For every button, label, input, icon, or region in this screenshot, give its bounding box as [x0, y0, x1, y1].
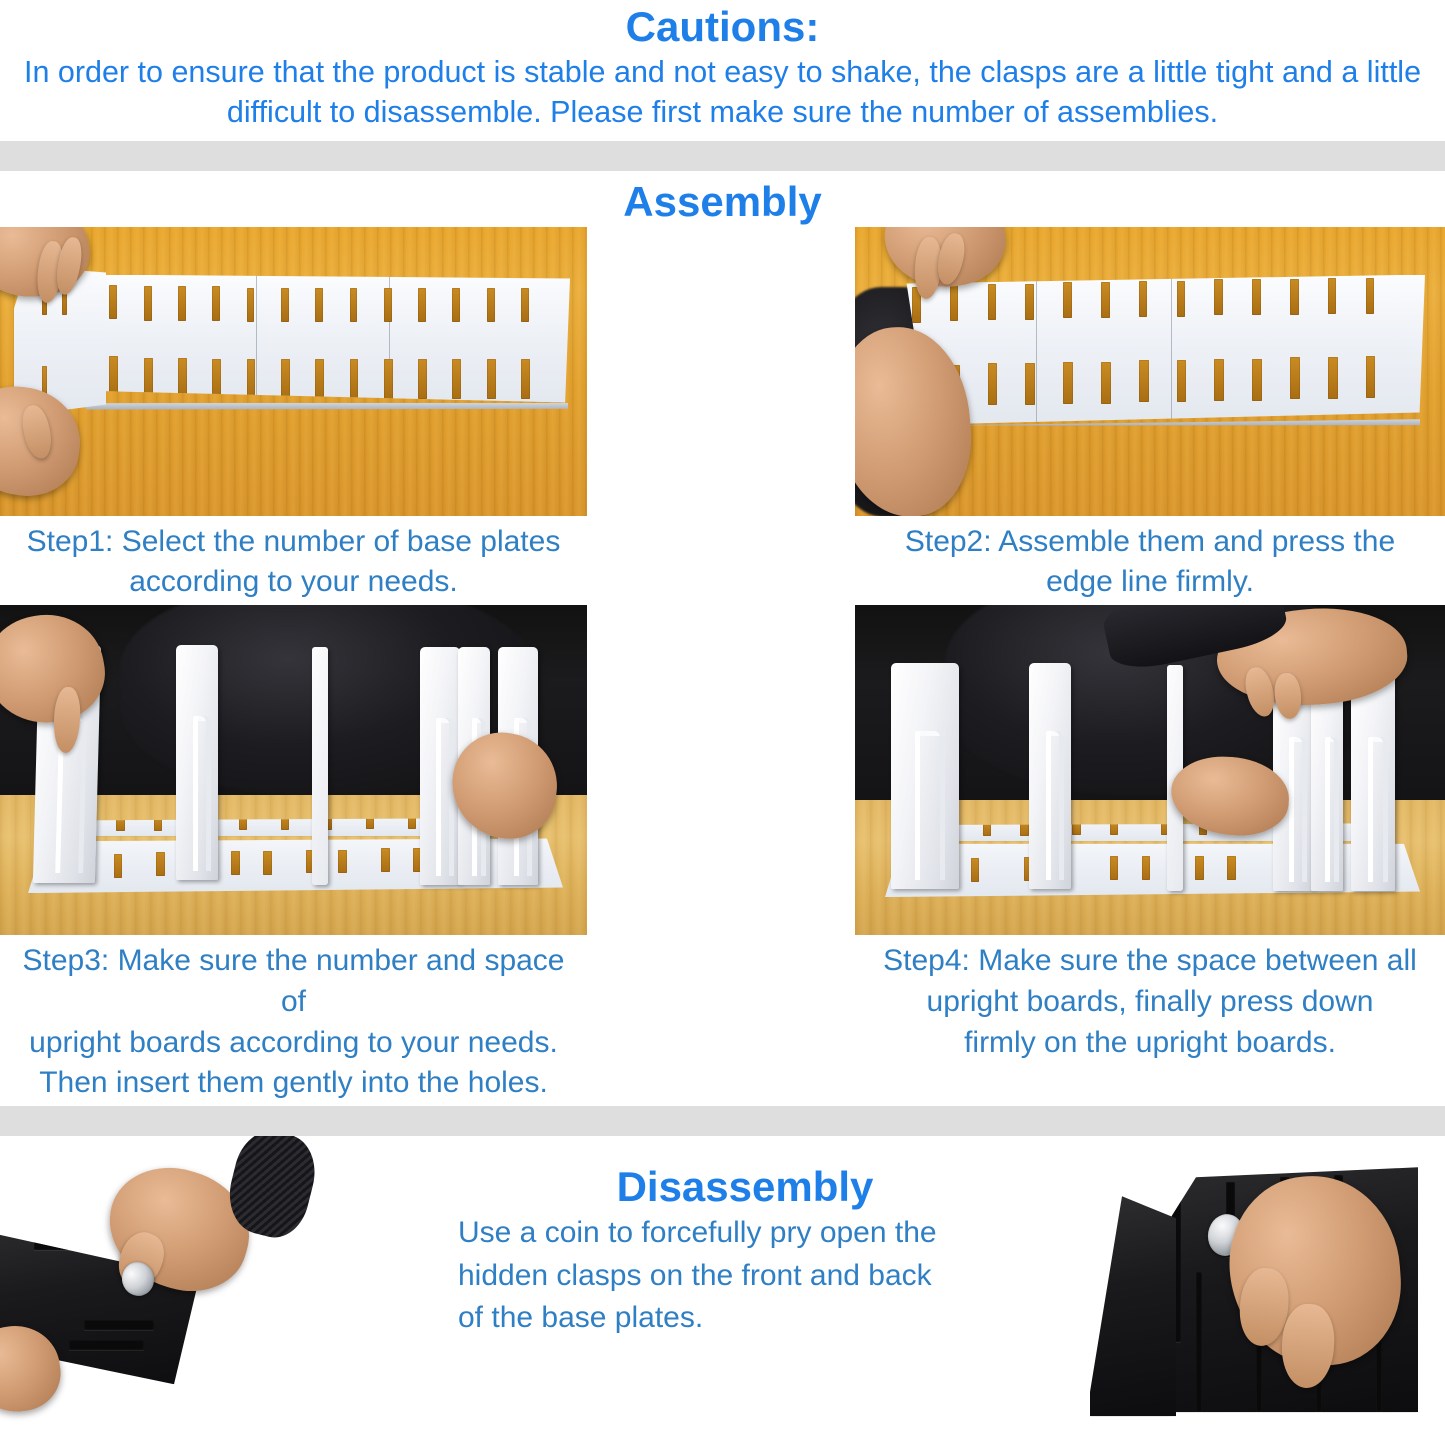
step2-photo: [855, 227, 1445, 516]
step3-photo: [0, 605, 587, 935]
step1-photo: [0, 227, 587, 516]
step4-caption: Step4: Make sure the space between all u…: [855, 935, 1445, 1065]
step3-caption: Step3: Make sure the number and space of…: [0, 935, 587, 1106]
cautions-section: Cautions: In order to ensure that the pr…: [0, 0, 1445, 133]
assembly-step-1: Step1: Select the number of base plates …: [0, 227, 587, 606]
assembly-row-1: Step1: Select the number of base plates …: [0, 227, 1445, 606]
divider-band-top: [0, 141, 1445, 171]
assembly-section: Assembly: [0, 171, 1445, 1107]
cautions-body-text: In order to ensure that the product is s…: [0, 48, 1445, 133]
base-plate-main: [80, 275, 570, 407]
disassembly-text-block: Disassembly Use a coin to forcefully pry…: [400, 1136, 1090, 1340]
upright-board: [1351, 671, 1395, 891]
upright-board: [1029, 663, 1071, 889]
upright-board: [176, 645, 218, 880]
step1-caption: Step1: Select the number of base plates …: [0, 516, 587, 606]
disassembly-right-photo: [1090, 1136, 1445, 1427]
upright-board: [891, 663, 959, 889]
divider-band-bottom: [0, 1106, 1445, 1136]
disassembly-section: Disassembly Use a coin to forcefully pry…: [0, 1136, 1445, 1427]
upright-board: [312, 647, 328, 885]
disassembly-left-photo: [0, 1136, 400, 1427]
disassembly-body-text: Use a coin to forcefully pry open the hi…: [400, 1212, 1090, 1340]
assembly-step-4: Step4: Make sure the space between all u…: [855, 605, 1445, 1065]
step2-caption: Step2: Assemble them and press the edge …: [855, 516, 1445, 606]
cautions-title: Cautions:: [0, 4, 1445, 48]
assembly-step-2: Step2: Assemble them and press the edge …: [855, 227, 1445, 606]
assembly-row-2: Step3: Make sure the number and space of…: [0, 605, 1445, 1106]
assembly-step-3: Step3: Make sure the number and space of…: [0, 605, 587, 1106]
disassembly-title: Disassembly: [400, 1148, 1090, 1212]
black-side-panel: [1090, 1196, 1176, 1416]
step4-photo: [855, 605, 1445, 935]
assembly-title: Assembly: [0, 171, 1445, 227]
